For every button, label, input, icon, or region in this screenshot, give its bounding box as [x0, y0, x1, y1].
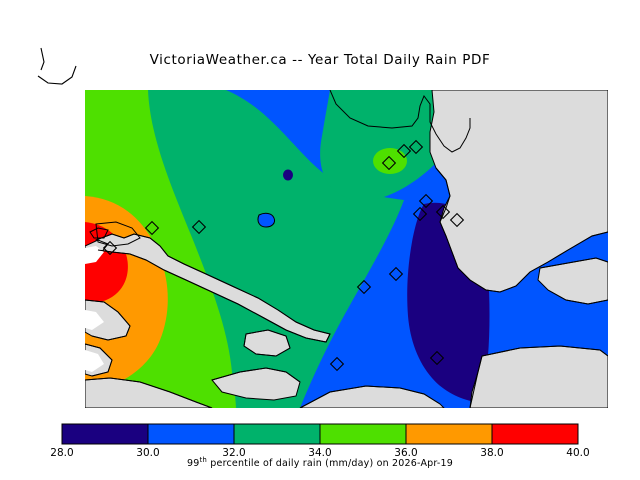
- colorbar: 28.0 30.0 32.0 34.0 36.0 38.0 40.0: [0, 418, 640, 480]
- colorbar-segments: [62, 424, 578, 444]
- band-bright-green-blob: [373, 148, 407, 174]
- caption-superscript: th: [199, 456, 207, 464]
- offframe-coastline: [38, 48, 76, 84]
- colorbar-segment-sea-green: [234, 424, 320, 444]
- caption-prefix: 99: [187, 458, 200, 469]
- inlet-outline: [258, 213, 275, 227]
- caption-rest: percentile of daily rain (mm/day) on 202…: [207, 458, 453, 469]
- band-navy-dot: [283, 170, 293, 181]
- weather-map-page: VictoriaWeather.ca -- Year Total Daily R…: [0, 0, 640, 480]
- colorbar-caption: 99th percentile of daily rain (mm/day) o…: [0, 456, 640, 469]
- contour-map: [0, 0, 640, 418]
- colorbar-segment-bright-green: [320, 424, 406, 444]
- colorbar-segment-navy: [62, 424, 148, 444]
- colorbar-segment-red: [492, 424, 578, 444]
- colorbar-segment-orange: [406, 424, 492, 444]
- colorbar-segment-blue: [148, 424, 234, 444]
- map-canvas: [85, 90, 608, 408]
